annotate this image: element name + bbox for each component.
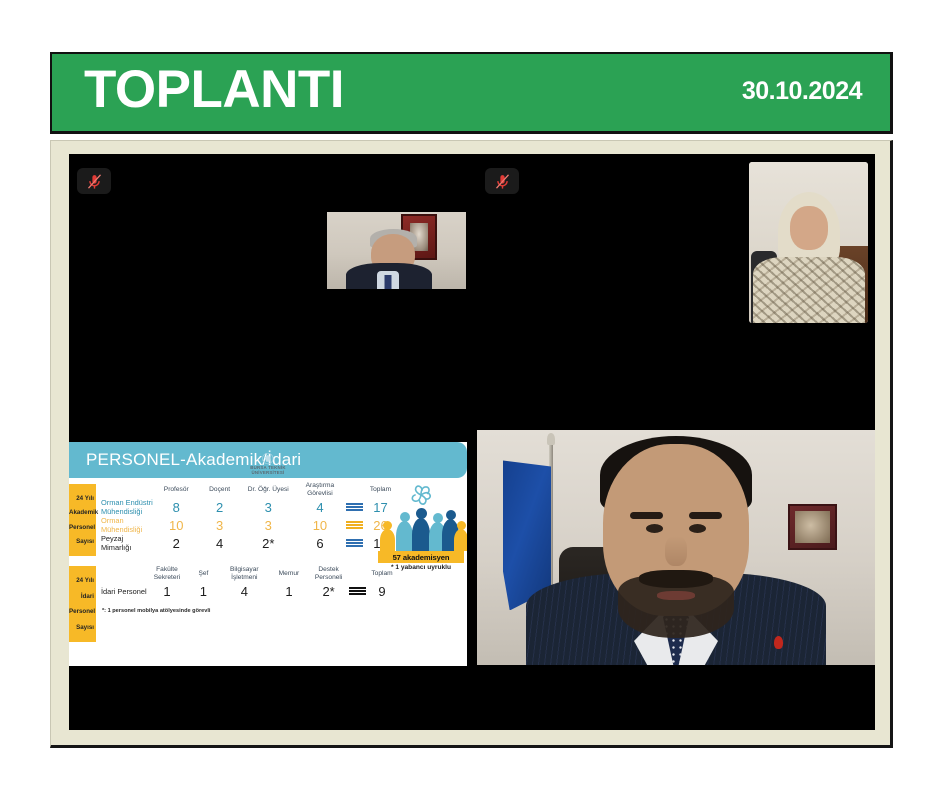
side-label-line: 24 Yılı <box>69 576 94 585</box>
presentation-slide: PERSONEL-Akademik/İdari 24 Yılı Akademik… <box>69 442 467 666</box>
row-label-orman-muh: Orman Mühendisliği <box>97 516 154 534</box>
person-head-icon <box>383 521 392 530</box>
col-destek-personeli: Destek Personeli <box>309 566 348 582</box>
col-dr-ogr-uyesi: Dr. Öğr. Üyesi <box>241 482 296 498</box>
table-footnote: *: 1 personel mobilya atölyesinde görevl… <box>102 608 211 614</box>
academic-personnel-table: Profesör Doçent Dr. Öğr. Üyesi Araştırma… <box>97 482 397 552</box>
speaker-head <box>603 444 749 616</box>
person-silhouette <box>396 521 413 551</box>
mic-muted-badge-top-left[interactable] <box>77 168 111 194</box>
person-face <box>790 206 828 250</box>
video-tile-top-left[interactable] <box>69 154 467 442</box>
lapel-pin <box>774 636 783 649</box>
letterbox-bottom-right <box>477 665 875 730</box>
col-sef: Şef <box>187 566 220 582</box>
speaker-nose <box>665 536 687 566</box>
side-label-line: Akademik <box>69 508 94 517</box>
swirl-icon <box>408 482 434 508</box>
cell-value: 3 <box>241 498 296 516</box>
logo-line-2: ÜNİVERSİTESİ <box>250 470 285 475</box>
bar-indicator-icon <box>346 539 363 547</box>
video-grid-left-column: PERSONEL-Akademik/İdari 24 Yılı Akademik… <box>69 154 467 730</box>
person-head-icon <box>416 508 427 519</box>
letterbox-bottom-left <box>69 666 467 730</box>
wall-picture-frame <box>788 504 837 550</box>
col-memur: Memur <box>269 566 310 582</box>
academic-side-label: 24 Yılı Akademik Personel Sayısı <box>69 484 96 556</box>
university-logo: BURSA TEKNİK ÜNİVERSİTESİ <box>250 452 285 475</box>
video-tile-top-right[interactable] <box>477 154 875 430</box>
bar-indicator-icon <box>349 587 366 595</box>
cell-value: 10 <box>296 516 344 534</box>
cell-value: 3 <box>241 516 296 534</box>
speaker-moustache <box>639 570 713 588</box>
person-silhouette <box>412 518 430 551</box>
speaker-eyebrow-right <box>689 512 722 519</box>
col-docent: Doçent <box>198 482 240 498</box>
side-label-line: Sayısı <box>69 537 94 546</box>
cell-value: 2 <box>198 498 240 516</box>
table-row: Orman Endüstri Mühendisliği 8 2 3 4 17 <box>97 498 397 516</box>
administrative-personnel-table: Fakülte Sekreteri Şef Bilgisayar İşletme… <box>97 566 397 600</box>
person-head-icon <box>400 512 410 522</box>
col-arastirma-gorevlisi: Araştırma Görevlisi <box>296 482 344 498</box>
side-label-line: Personel <box>69 523 94 532</box>
cell-value: 4 <box>198 534 240 552</box>
meeting-title-banner: TOPLANTI 30.10.2024 <box>50 52 893 134</box>
cell-value: 4 <box>296 498 344 516</box>
table-row: Orman Mühendisliği 10 3 3 10 26 <box>97 516 397 534</box>
people-group-icon <box>378 509 464 551</box>
video-tile-bottom-left[interactable]: PERSONEL-Akademik/İdari 24 Yılı Akademik… <box>69 442 467 730</box>
row-label-peyzaj: Peyzaj Mimarlığı <box>97 534 154 552</box>
webcam-inset-woman-headscarf[interactable] <box>749 162 868 323</box>
cell-total: 9 <box>367 582 397 600</box>
mic-muted-badge-top-right[interactable] <box>485 168 519 194</box>
foreign-national-note: * 1 yabancı uyruklu <box>378 564 464 571</box>
cell-value: 3 <box>198 516 240 534</box>
speaker-eyebrow-left <box>630 512 663 519</box>
row-label-orman-endustri: Orman Endüstri Mühendisliği <box>97 498 154 516</box>
col-fakulte-sekreteri: Fakülte Sekreteri <box>147 566 187 582</box>
cell-value: 4 <box>220 582 269 600</box>
academic-count-infographic: 57 akademisyen * 1 yabancı uyruklu <box>378 482 464 571</box>
cell-value: 2* <box>309 582 348 600</box>
btu-logo-icon <box>261 452 274 465</box>
screenshot-root: TOPLANTI 30.10.2024 <box>0 0 940 788</box>
person-head-icon <box>457 521 466 530</box>
cell-value: 2* <box>241 534 296 552</box>
video-grid: PERSONEL-Akademik/İdari 24 Yılı Akademik… <box>69 154 875 730</box>
side-label-line: Personel <box>69 607 94 616</box>
bar-indicator-icon <box>346 521 363 529</box>
mic-muted-icon <box>494 172 511 191</box>
photo-frame: PERSONEL-Akademik/İdari 24 Yılı Akademik… <box>50 140 893 748</box>
video-grid-right-column <box>477 154 875 730</box>
administrative-side-label: 24 Yılı İdari Personel Sayısı <box>69 566 96 642</box>
webcam-inset-man-suit[interactable] <box>326 211 467 290</box>
page-title: TOPLANTI <box>84 63 344 122</box>
table-row: Peyzaj Mimarlığı 2 4 2* 6 14 <box>97 534 397 552</box>
meeting-date: 30.10.2024 <box>742 77 862 108</box>
table-header-row: Profesör Doçent Dr. Öğr. Üyesi Araştırma… <box>97 482 397 498</box>
cell-value: 1 <box>187 582 220 600</box>
bar-indicator-icon <box>346 503 363 511</box>
cell-value: 8 <box>154 498 198 516</box>
cell-value: 1 <box>269 582 310 600</box>
table-row: İdari Personel 1 1 4 1 2* 9 <box>97 582 397 600</box>
video-tile-bottom-right[interactable] <box>477 430 875 730</box>
cell-value: 10 <box>154 516 198 534</box>
active-speaker-video <box>477 430 875 665</box>
person-silhouette <box>380 529 395 551</box>
cell-value: 6 <box>296 534 344 552</box>
col-bilgisayar-isletmeni: Bilgisayar İşletmeni <box>220 566 269 582</box>
row-label-idari-personel: İdari Personel <box>97 582 147 600</box>
person-tie <box>385 275 392 290</box>
side-label-line: İdari <box>69 592 94 601</box>
speaker-eye-right <box>689 524 706 533</box>
person-head-icon <box>433 513 443 523</box>
person-head-icon <box>446 510 456 520</box>
side-label-line: Sayısı <box>69 623 94 632</box>
speaker-mouth <box>657 591 695 600</box>
col-profesor: Profesör <box>154 482 198 498</box>
cell-value: 1 <box>147 582 187 600</box>
mic-muted-icon <box>86 172 103 191</box>
table-header-row: Fakülte Sekreteri Şef Bilgisayar İşletme… <box>97 566 397 582</box>
cell-value: 2 <box>154 534 198 552</box>
academic-count-badge: 57 akademisyen <box>378 551 464 563</box>
person-patterned-blouse <box>753 257 865 323</box>
side-label-line: 24 Yılı <box>69 494 94 503</box>
person-silhouette <box>454 529 467 551</box>
speaker-eye-left <box>646 524 663 533</box>
